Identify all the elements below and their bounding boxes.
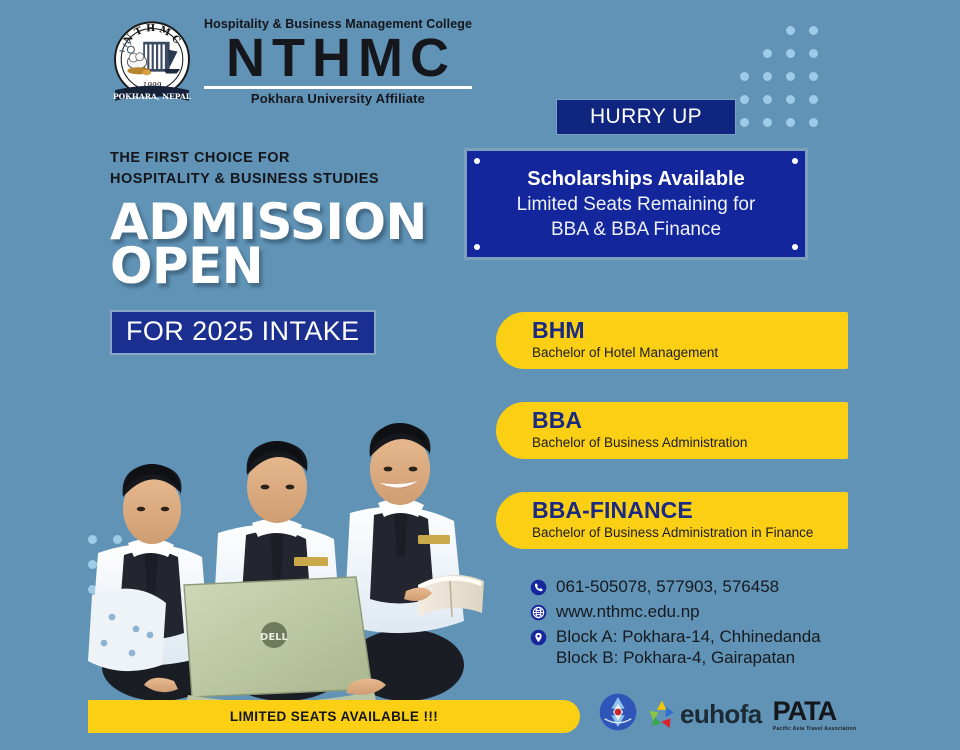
program-card-bba[interactable]: BBA Bachelor of Business Administration bbox=[496, 402, 848, 459]
scholarship-title: Scholarships Available bbox=[527, 166, 745, 192]
laptop: DELL bbox=[184, 577, 376, 700]
globe-icon bbox=[530, 604, 547, 621]
contact-row-website[interactable]: www.nthmc.edu.np bbox=[530, 601, 870, 623]
pata-subtitle: Pacific Asia Travel Association bbox=[773, 726, 857, 732]
intake-badge: FOR 2025 INTAKE bbox=[110, 310, 376, 355]
decorative-dot-grid-top-right bbox=[740, 26, 818, 127]
scholarship-line-3: BBA & BBA Finance bbox=[551, 217, 721, 242]
brand-divider bbox=[204, 86, 472, 89]
contact-address-line-1: Block A: Pokhara-14, Chhinedanda bbox=[556, 627, 821, 646]
hurry-up-badge: HURRY UP bbox=[556, 99, 736, 135]
students-photo: DELL bbox=[88, 395, 492, 700]
euhofa-logo: euhofa bbox=[645, 698, 762, 732]
contact-phone-text: 061-505078, 577903, 576458 bbox=[556, 576, 779, 598]
program-card-bhm[interactable]: BHM Bachelor of Hotel Management bbox=[496, 312, 848, 369]
eyebrow-line-1: THE FIRST CHOICE FOR bbox=[110, 148, 440, 169]
limited-seats-text: LIMITED SEATS AVAILABLE !!! bbox=[230, 709, 438, 724]
program-card-bba-finance[interactable]: BBA-FINANCE Bachelor of Business Adminis… bbox=[496, 492, 848, 549]
partner-logos: euhofa PATA Pacific Asia Travel Associat… bbox=[598, 692, 856, 737]
pata-wordmark: PATA bbox=[773, 698, 837, 725]
contact-address-text: Block A: Pokhara-14, Chhinedanda Block B… bbox=[556, 626, 821, 670]
map-pin-icon bbox=[530, 629, 547, 646]
star-emblem-icon bbox=[598, 692, 638, 737]
scholarship-line-2: Limited Seats Remaining for bbox=[517, 192, 756, 217]
program-name: Bachelor of Hotel Management bbox=[532, 344, 848, 362]
laptop-brand-text: DELL bbox=[260, 632, 289, 643]
brand-text-lockup: Hospitality & Business Management Colleg… bbox=[204, 18, 472, 106]
screw-icon bbox=[792, 158, 798, 164]
eyebrow-line-2: HOSPITALITY & BUSINESS STUDIES bbox=[110, 169, 440, 190]
limited-seats-banner: LIMITED SEATS AVAILABLE !!! bbox=[88, 700, 580, 733]
page-title: ADMISSION OPEN bbox=[110, 200, 440, 288]
contact-block: 061-505078, 577903, 576458 www.nthmc.edu… bbox=[530, 576, 870, 672]
program-name: Bachelor of Business Administration bbox=[532, 434, 848, 452]
brand-affiliate: Pokhara University Affiliate bbox=[251, 91, 425, 106]
screw-icon bbox=[792, 244, 798, 250]
floral-bag bbox=[88, 589, 166, 672]
headline-block: THE FIRST CHOICE FOR HOSPITALITY & BUSIN… bbox=[110, 148, 440, 355]
phone-icon bbox=[530, 579, 547, 596]
scholarship-board: Scholarships Available Limited Seats Rem… bbox=[464, 148, 808, 260]
seal-ribbon-text: POKHARA, NEPAL bbox=[113, 92, 192, 101]
contact-row-address[interactable]: Block A: Pokhara-14, Chhinedanda Block B… bbox=[530, 626, 870, 670]
program-code: BHM bbox=[532, 318, 848, 343]
college-seal-icon: N T H M C 1999 POKHARA, NEPAL bbox=[108, 18, 196, 106]
program-code: BBA-FINANCE bbox=[532, 498, 848, 523]
screw-icon bbox=[474, 244, 480, 250]
euhofa-wordmark: euhofa bbox=[680, 699, 762, 730]
program-name: Bachelor of Business Administration in F… bbox=[532, 524, 848, 542]
brand-acronym: NTHMC bbox=[226, 33, 456, 85]
contact-row-phone[interactable]: 061-505078, 577903, 576458 bbox=[530, 576, 870, 598]
brand-header: N T H M C 1999 POKHARA, NEPAL Hospitalit… bbox=[108, 18, 472, 106]
screw-icon bbox=[474, 158, 480, 164]
euhofa-star-icon bbox=[645, 698, 679, 732]
program-code: BBA bbox=[532, 408, 848, 433]
contact-address-line-2: Block B: Pokhara-4, Gairapatan bbox=[556, 647, 821, 669]
contact-website-text: www.nthmc.edu.np bbox=[556, 601, 700, 623]
pata-logo: PATA Pacific Asia Travel Association bbox=[773, 698, 857, 732]
